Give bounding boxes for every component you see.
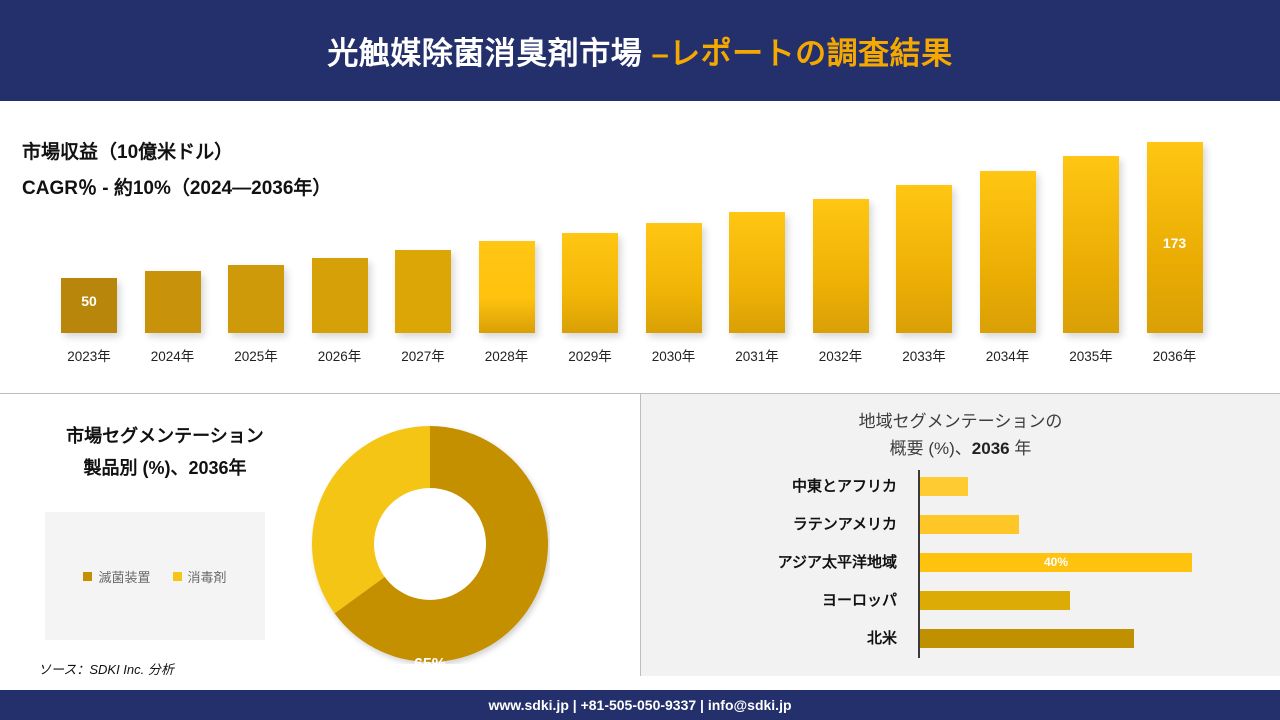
- region-value-label: 40%: [920, 553, 1192, 572]
- bar-column: 2032年: [813, 199, 869, 333]
- market-revenue-panel: 市場収益（10億米ドル） CAGR％ - 約10%（2024―2036年） 50…: [0, 101, 1280, 393]
- region-bar[interactable]: [920, 591, 1070, 610]
- legend-item-1[interactable]: 消毒剤: [173, 567, 227, 586]
- region-title-line1: 地域セグメンテーションの: [641, 408, 1280, 435]
- bar-category-label: 2026年: [304, 333, 376, 365]
- legend-item-0[interactable]: 滅菌装置: [83, 567, 150, 586]
- region-category-label: 北米: [657, 626, 897, 651]
- bar[interactable]: [813, 199, 869, 333]
- region-bar-row: 北米: [641, 626, 1280, 651]
- bar-column: 2024年: [145, 271, 201, 333]
- region-category-label: ヨーロッパ: [657, 588, 897, 613]
- region-bar-row: アジア太平洋地域40%: [641, 550, 1280, 575]
- bar-category-label: 2034年: [972, 333, 1044, 365]
- bar-category-label: 2036年: [1139, 333, 1211, 365]
- legend-label-1: 消毒剤: [188, 567, 227, 586]
- bar[interactable]: [562, 233, 618, 333]
- region-title: 地域セグメンテーションの 概要 (%)、2036 年: [641, 408, 1280, 462]
- page-title-sub: –レポートの調査結果: [651, 36, 952, 71]
- region-title-suffix: 年: [1010, 439, 1032, 458]
- donut-value-label: 65%: [310, 656, 550, 674]
- bar-column: 2028年: [479, 241, 535, 333]
- region-category-label: アジア太平洋地域: [657, 550, 897, 575]
- footer-contact-text[interactable]: www.sdki.jp | +81-505-050-9337 | info@sd…: [488, 697, 791, 713]
- bar-category-label: 2025年: [220, 333, 292, 365]
- bar-category-label: 2028年: [471, 333, 543, 365]
- region-title-year: 2036: [972, 439, 1010, 458]
- bar-column: 2025年: [228, 265, 284, 333]
- bar-column: 2029年: [562, 233, 618, 333]
- region-bar[interactable]: [920, 515, 1019, 534]
- bar-category-label: 2035年: [1055, 333, 1127, 365]
- region-title-line2: 概要 (%)、2036 年: [641, 435, 1280, 462]
- segmentation-title: 市場セグメンテーション 製品別 (%)、2036年: [20, 420, 310, 484]
- legend-label-0: 滅菌装置: [98, 567, 150, 586]
- bar-column: 1732036年: [1147, 142, 1203, 333]
- bar[interactable]: [646, 223, 702, 333]
- bar[interactable]: [1063, 156, 1119, 333]
- bar-column: 2026年: [312, 258, 368, 333]
- bar-category-label: 2032年: [805, 333, 877, 365]
- bar-column: 2035年: [1063, 156, 1119, 333]
- footer-bar: www.sdki.jp | +81-505-050-9337 | info@sd…: [0, 690, 1280, 720]
- donut-chart: 65%: [310, 424, 550, 664]
- region-bar-row: ラテンアメリカ: [641, 512, 1280, 537]
- bar-value-label: 50: [61, 293, 117, 309]
- legend-swatch-icon-0: [83, 572, 92, 581]
- bar-category-label: 2030年: [638, 333, 710, 365]
- region-bar[interactable]: 40%: [920, 553, 1192, 572]
- region-bar[interactable]: [920, 477, 968, 496]
- source-note: ソース：SDKI Inc. 分析: [38, 659, 174, 678]
- region-bar[interactable]: [920, 629, 1134, 648]
- bar-value-label: 173: [1147, 235, 1203, 251]
- region-bar-row: 中東とアフリカ: [641, 474, 1280, 499]
- bar[interactable]: [479, 241, 535, 333]
- bar[interactable]: [228, 265, 284, 333]
- bar-column: 2030年: [646, 223, 702, 333]
- bar-column: 502023年: [61, 278, 117, 333]
- bar-category-label: 2031年: [721, 333, 793, 365]
- segmentation-title-line2: 製品別 (%)、2036年: [20, 452, 310, 484]
- page-title: 光触媒除菌消臭剤市場 –レポートの調査結果: [327, 28, 952, 73]
- bar-category-label: 2033年: [888, 333, 960, 365]
- region-title-prefix: 概要 (%)、: [890, 439, 972, 458]
- bar[interactable]: [145, 271, 201, 333]
- bar-column: 2031年: [729, 212, 785, 333]
- bar[interactable]: [980, 171, 1036, 333]
- segmentation-title-line1: 市場セグメンテーション: [20, 420, 310, 452]
- bar[interactable]: [395, 250, 451, 333]
- legend-swatch-icon-1: [173, 572, 182, 581]
- bar-category-label: 2024年: [137, 333, 209, 365]
- bar-category-label: 2027年: [387, 333, 459, 365]
- bar-column: 2027年: [395, 250, 451, 333]
- region-category-label: 中東とアフリカ: [657, 474, 897, 499]
- bar[interactable]: [896, 185, 952, 333]
- region-bar-row: ヨーロッパ: [641, 588, 1280, 613]
- bar-column: 2033年: [896, 185, 952, 333]
- regional-segmentation-panel: 地域セグメンテーションの 概要 (%)、2036 年 中東とアフリカラテンアメリ…: [641, 394, 1280, 676]
- bar[interactable]: [729, 212, 785, 333]
- header-banner: 光触媒除菌消臭剤市場 –レポートの調査結果: [0, 0, 1280, 101]
- bar[interactable]: [312, 258, 368, 333]
- donut-svg: [310, 424, 550, 664]
- bar-column: 2034年: [980, 171, 1036, 333]
- donut-legend: 滅菌装置 消毒剤: [45, 512, 265, 640]
- bar-category-label: 2029年: [554, 333, 626, 365]
- revenue-bar-chart: 502023年2024年2025年2026年2027年2028年2029年203…: [0, 101, 1280, 393]
- market-segmentation-panel: 市場セグメンテーション 製品別 (%)、2036年 滅菌装置 消毒剤 65%: [0, 394, 640, 676]
- page-title-main: 光触媒除菌消臭剤市場: [327, 36, 651, 71]
- region-category-label: ラテンアメリカ: [657, 512, 897, 537]
- bar-category-label: 2023年: [53, 333, 125, 365]
- donut-hole: [374, 488, 486, 600]
